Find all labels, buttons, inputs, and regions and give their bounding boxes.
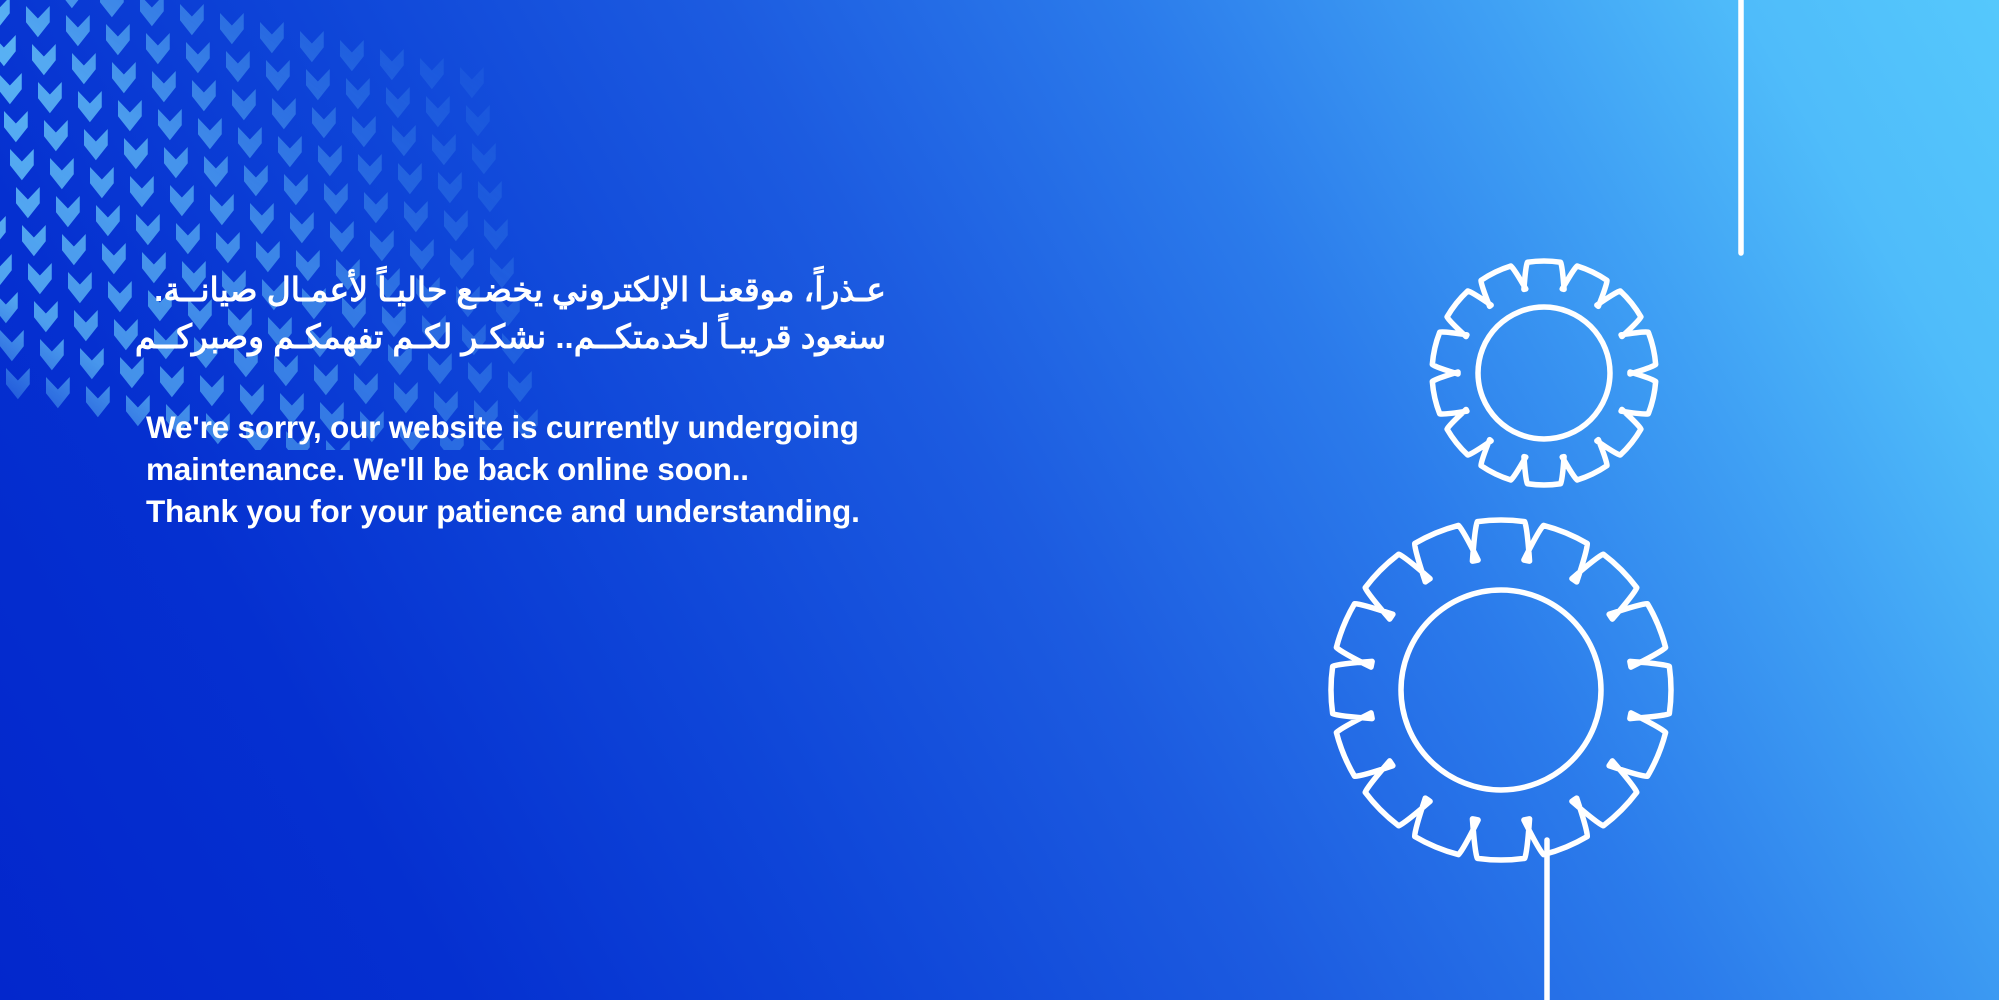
gear-illustration: [1099, 0, 1999, 1000]
english-message: We're sorry, our website is currently un…: [146, 406, 1046, 532]
large-gear-icon: [1331, 520, 1671, 860]
english-line-1: We're sorry, our website is currently un…: [146, 406, 1046, 448]
arabic-line-2: سنعود قريبـاً لخدمتكــم.. نشكـر لكـم تفه…: [146, 313, 886, 360]
arabic-message: عـذراً، موقعنـا الإلكتروني يخضـع حاليـاً…: [146, 266, 1046, 360]
small-gear-icon: [1432, 261, 1655, 485]
large-gear-hub: [1401, 590, 1601, 790]
small-gear-hub: [1478, 307, 1610, 439]
english-line-3: Thank you for your patience and understa…: [146, 490, 1046, 532]
maintenance-page: عـذراً، موقعنـا الإلكتروني يخضـع حاليـاً…: [0, 0, 1999, 1000]
arabic-line-1: عـذراً، موقعنـا الإلكتروني يخضـع حاليـاً…: [146, 266, 886, 313]
maintenance-message: عـذراً، موقعنـا الإلكتروني يخضـع حاليـاً…: [146, 266, 1046, 532]
english-line-2: maintenance. We'll be back online soon..: [146, 448, 1046, 490]
